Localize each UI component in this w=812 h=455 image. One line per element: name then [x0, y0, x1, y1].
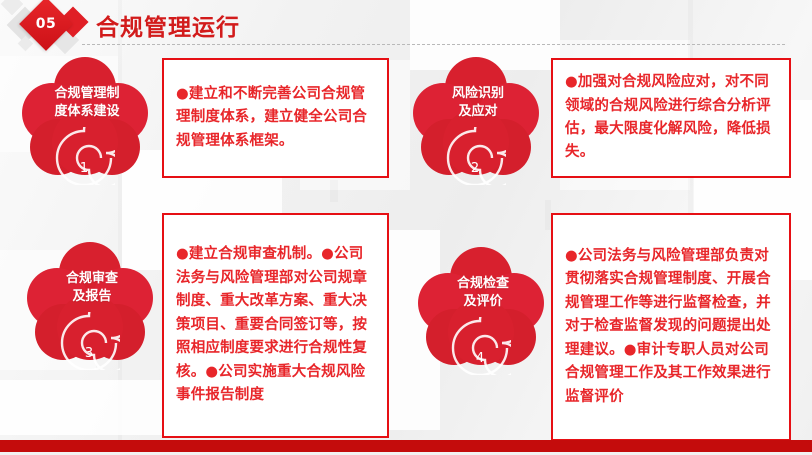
- card-1-badge[interactable]: 合规管理制 度体系建设 1: [22, 57, 152, 189]
- card-3-body: ●建立合规审查机制。●公司法务与风险管理部对公司规章制度、重大改革方案、重大决策…: [164, 243, 387, 407]
- page-title: 合规管理运行: [96, 8, 240, 42]
- card-1-badge-label-line1: 合规管理制: [22, 85, 152, 103]
- slide-header: 05 合规管理运行: [0, 0, 812, 52]
- card-2-number: 2: [444, 127, 506, 185]
- card-2-textbox: ●加强对合规风险应对，对不同领域的合规风险进行综合分析评估，最大限度化解风险，降…: [551, 58, 791, 178]
- card-3-number: 3: [58, 312, 120, 370]
- card-2-badge-label: 风险识别 及应对: [413, 85, 543, 122]
- card-3-textbox: ●建立合规审查机制。●公司法务与风险管理部对公司规章制度、重大改革方案、重大决策…: [162, 213, 389, 438]
- bg-block-5: [330, 180, 338, 202]
- card-4-textbox: ●公司法务与风险管理部负责对贯彻落实合规管理制度、开展合规管理工作等进行监督检查…: [551, 213, 791, 441]
- card-4-badge-label-line2: 及评价: [418, 293, 548, 311]
- bottom-accent-bar: [0, 440, 812, 452]
- card-4-badge-label-line1: 合规检查: [418, 275, 548, 293]
- card-1-body: ●建立和不断完善公司合规管理制度体系，建立健全公司合规管理体系框架。: [164, 83, 387, 153]
- section-number-label: 05: [27, 5, 65, 43]
- card-1-textbox: ●建立和不断完善公司合规管理制度体系，建立健全公司合规管理体系框架。: [162, 58, 389, 178]
- card-2-badge-label-line1: 风险识别: [413, 85, 543, 103]
- card-1-number: 1: [53, 127, 115, 185]
- card-1-badge-label-line2: 度体系建设: [22, 103, 152, 121]
- card-1-badge-label: 合规管理制 度体系建设: [22, 85, 152, 122]
- card-4-number: 4: [449, 317, 511, 375]
- header-divider: [82, 44, 785, 45]
- card-4-badge-label: 合规检查 及评价: [418, 275, 548, 312]
- card-4-body: ●公司法务与风险管理部负责对贯彻落实合规管理制度、开展合规管理工作等进行监督检查…: [553, 245, 789, 409]
- slide-root: 05 合规管理运行 合规管理制 度体系建设 1 ●建立和不断完善公司合规管理制度…: [0, 0, 812, 455]
- card-2-body: ●加强对合规风险应对，对不同领域的合规风险进行综合分析评估，最大限度化解风险，降…: [553, 71, 789, 165]
- card-3-badge[interactable]: 合规审查 及报告 3: [27, 242, 157, 374]
- card-2-badge[interactable]: 风险识别 及应对 2: [413, 57, 543, 189]
- card-3-badge-label-line2: 及报告: [27, 288, 157, 306]
- card-4-badge[interactable]: 合规检查 及评价 4: [418, 247, 548, 379]
- card-2-badge-label-line2: 及应对: [413, 103, 543, 121]
- card-3-badge-label: 合规审查 及报告: [27, 270, 157, 307]
- card-3-badge-label-line1: 合规审查: [27, 270, 157, 288]
